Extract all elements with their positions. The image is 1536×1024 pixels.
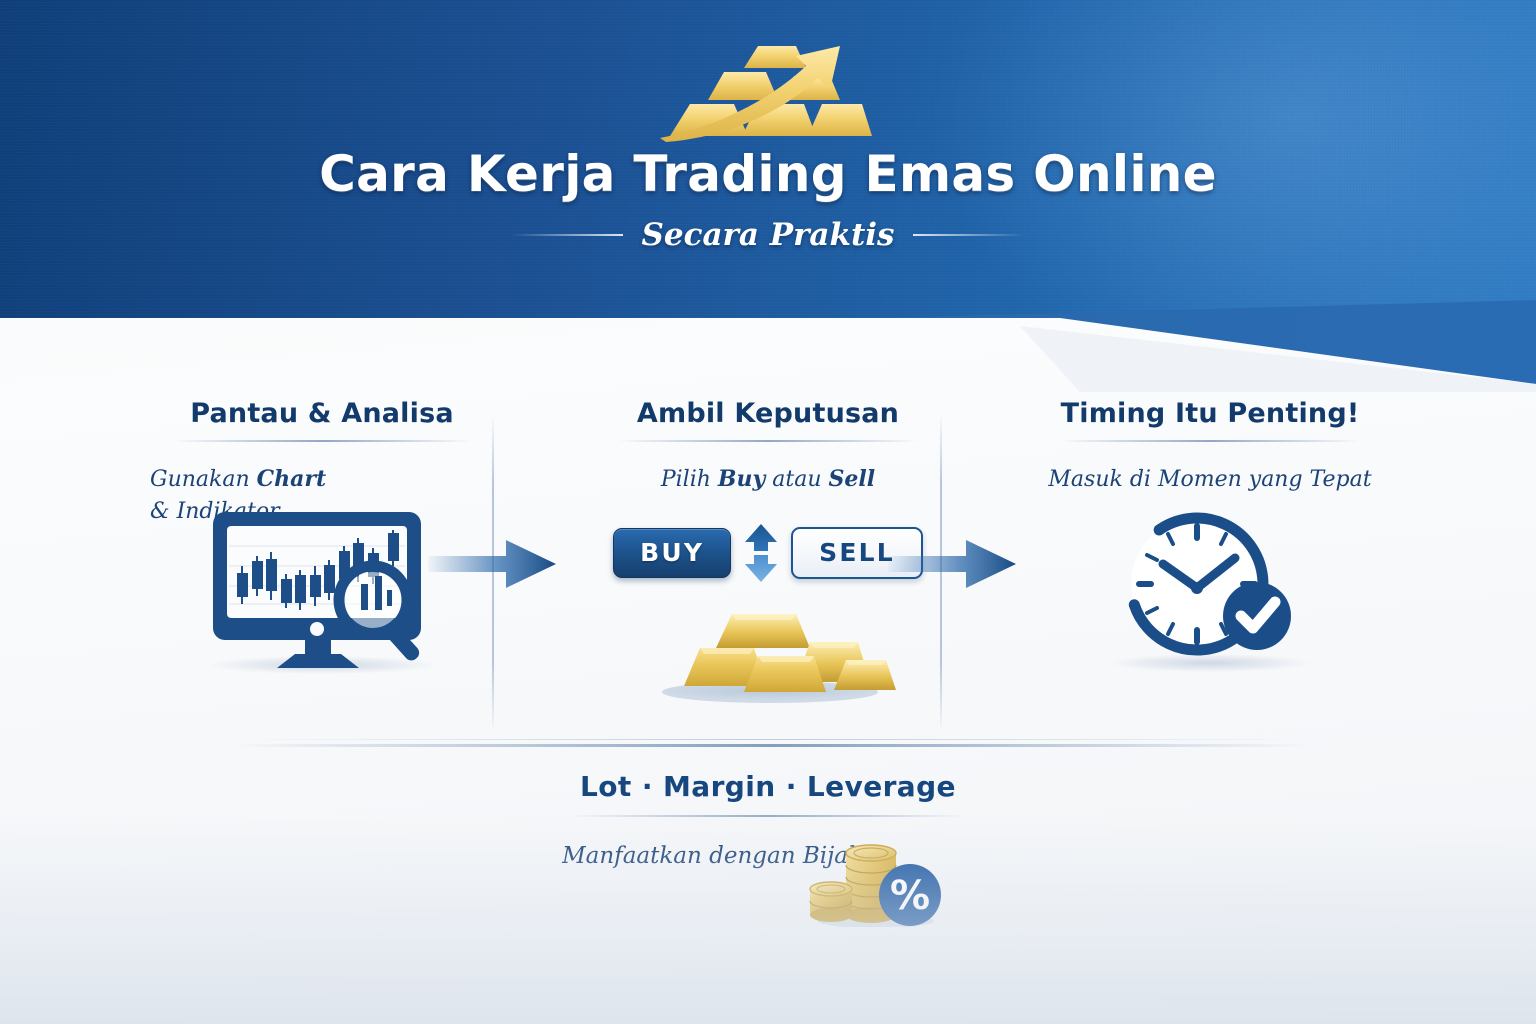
infographic-canvas: Cara Kerja Trading Emas Online Secara Pr… xyxy=(0,0,1536,1024)
gold-bars-icon xyxy=(558,596,978,706)
subtitle-rule-right xyxy=(913,234,1025,236)
arrow-right-icon xyxy=(428,538,558,590)
gold-bars-uptrend-icon xyxy=(656,42,880,142)
title-block: Cara Kerja Trading Emas Online Secara Pr… xyxy=(0,148,1536,253)
subtitle-row: Secara Praktis xyxy=(0,217,1536,253)
step-column-ambil-keputusan: Ambil Keputusan Pilih Buy atau Sell xyxy=(558,398,978,496)
bottom-subtitle-row: Manfaatkan dengan Bijak xyxy=(0,843,1536,939)
step-heading-1: Pantau & Analisa xyxy=(112,398,532,429)
step-subtitle-3: Masuk di Momen yang Tepat xyxy=(1000,464,1420,496)
step-heading-rule-3 xyxy=(1060,440,1360,442)
header-banner: Cara Kerja Trading Emas Online Secara Pr… xyxy=(0,0,1536,318)
buy-button[interactable]: BUY xyxy=(613,528,731,578)
page-title: Cara Kerja Trading Emas Online xyxy=(0,148,1536,201)
step-column-timing: Timing Itu Penting! Masuk di Momen yang … xyxy=(1000,398,1420,496)
step-subtitle-1-prefix: Gunakan xyxy=(150,467,257,492)
step-subtitle-2-mid: atau xyxy=(765,467,828,492)
step-subtitle-2-buy: Buy xyxy=(718,466,765,492)
step-heading-2: Ambil Keputusan xyxy=(558,398,978,429)
content-stage: Pantau & Analisa Gunakan Chart & Indikat… xyxy=(0,318,1536,1024)
bottom-section: Lot · Margin · Leverage Manfaatkan denga… xyxy=(0,770,1536,939)
bottom-heading-rule xyxy=(570,815,966,817)
clock-check-icon xyxy=(1000,504,1420,694)
up-down-arrow-icon xyxy=(743,524,779,582)
step-heading-rule-2 xyxy=(618,440,918,442)
step-subtitle-2-prefix: Pilih xyxy=(661,467,718,492)
gold-coins-percent-icon: % xyxy=(806,831,946,927)
step-subtitle-2: Pilih Buy atau Sell xyxy=(558,464,978,496)
monitor-candlestick-magnifier-icon xyxy=(112,504,532,694)
step-subtitle-2-sell: Sell xyxy=(829,466,876,492)
step-subtitle-1-bold: Chart xyxy=(257,466,327,492)
step-heading-rule-1 xyxy=(172,440,472,442)
bottom-heading: Lot · Margin · Leverage xyxy=(0,770,1536,803)
page-subtitle: Secara Praktis xyxy=(641,217,894,253)
bottom-subtitle: Manfaatkan dengan Bijak xyxy=(0,843,1536,869)
step-heading-3: Timing Itu Penting! xyxy=(1000,398,1420,429)
percent-symbol: % xyxy=(890,873,930,919)
section-divider xyxy=(232,744,1308,747)
subtitle-rule-left xyxy=(511,234,623,236)
arrow-right-icon xyxy=(888,538,1018,590)
